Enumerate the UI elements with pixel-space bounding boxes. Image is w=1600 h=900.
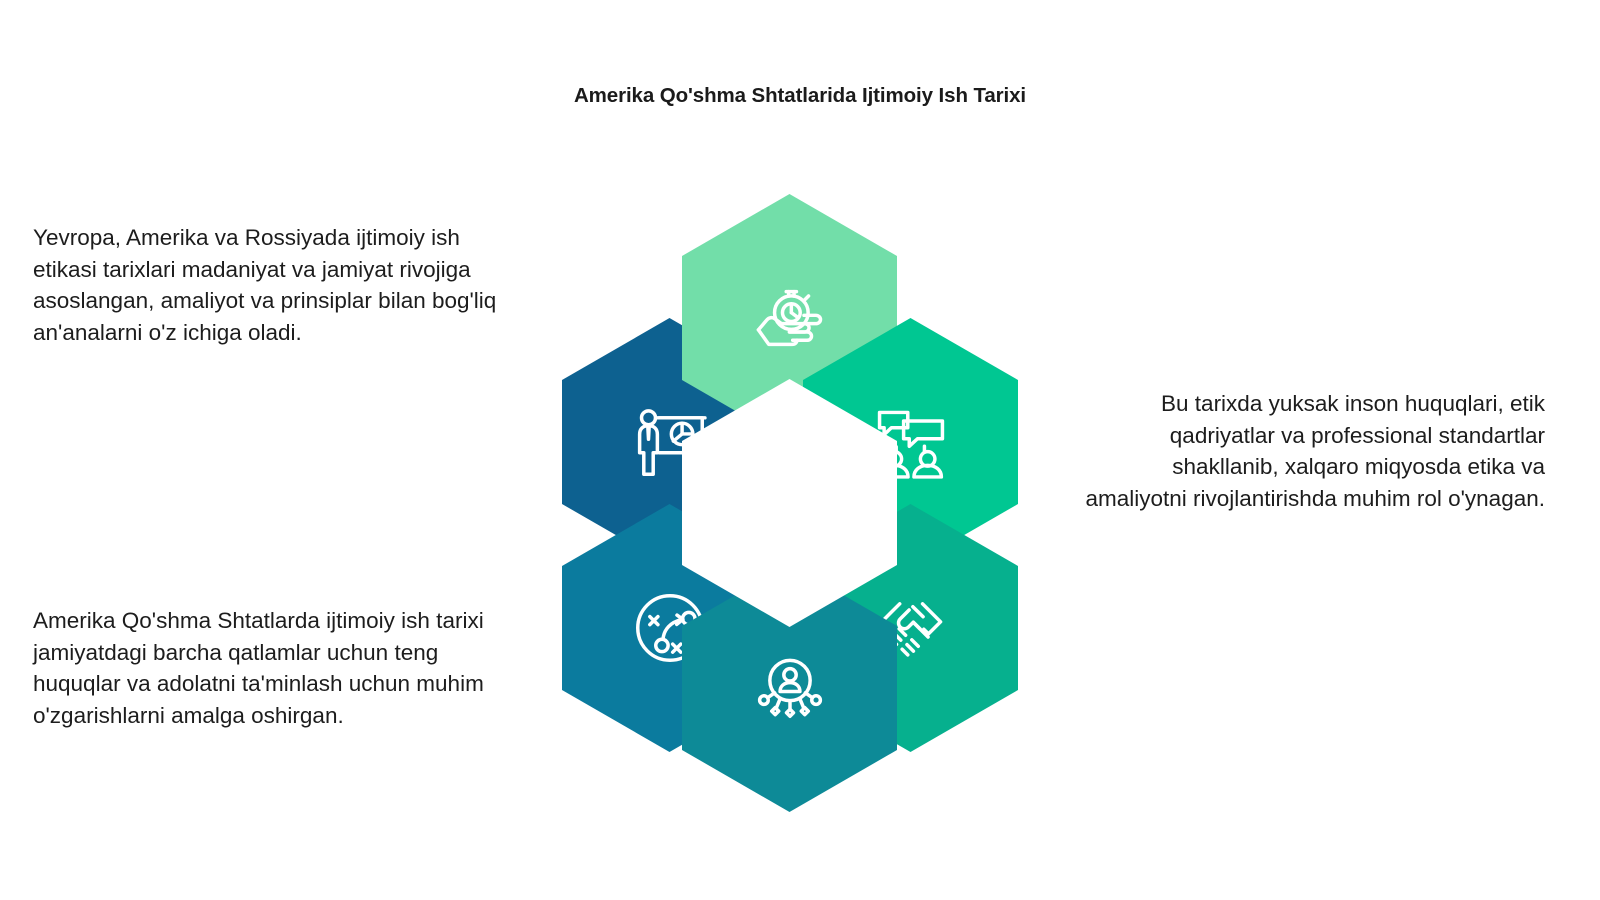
text-block-bottom-left: Amerika Qo'shma Shtatlarda ijtimoiy ish … [33,605,503,731]
hand-holding-stopwatch-icon [747,275,833,361]
hexagon-cluster [520,190,1060,750]
text-block-top-left: Yevropa, Amerika va Rossiyada ijtimoiy i… [33,222,503,348]
infographic-canvas: Amerika Qo'shma Shtatlarida Ijtimoiy Ish… [0,0,1600,900]
page-title: Amerika Qo'shma Shtatlarida Ijtimoiy Ish… [0,84,1600,108]
text-block-right: Bu tarixda yuksak inson huquqlari, etik … [1085,388,1545,514]
user-network-connections-icon [747,645,833,731]
